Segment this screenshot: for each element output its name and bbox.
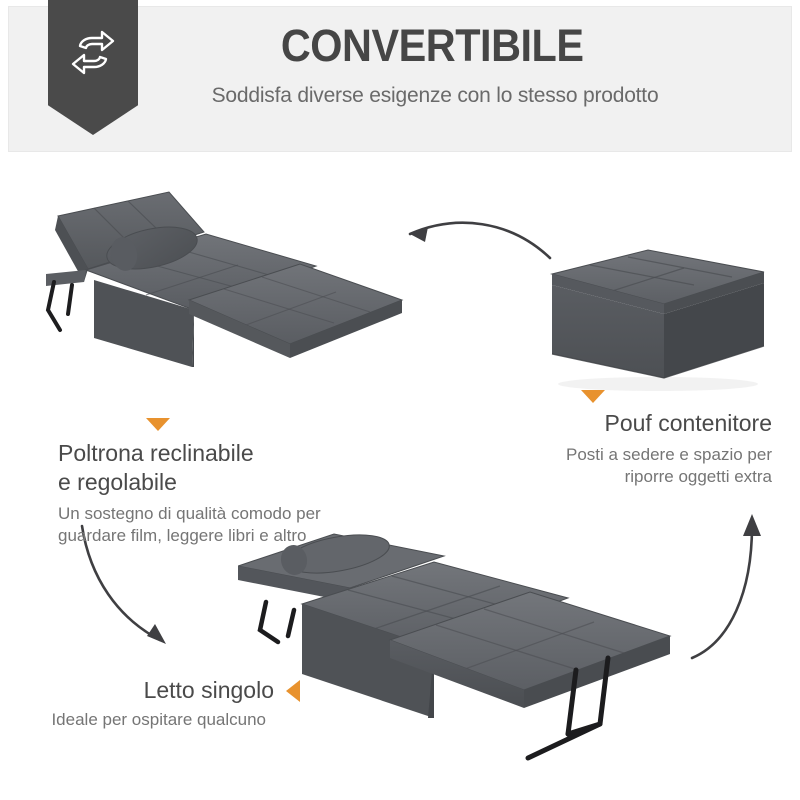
product-image-poltrona-reclinabile bbox=[24, 182, 414, 397]
feature-title-bed: Letto singolo bbox=[144, 676, 274, 705]
page-title: CONVERTIBILE bbox=[32, 20, 768, 72]
feature-caption-pouf: Pouf contenitore Posti a sedere e spazio… bbox=[472, 390, 772, 488]
feature-caption-recliner: Poltrona reclinabile e regolabile Un sos… bbox=[58, 418, 388, 547]
feature-title-recliner-line1: Poltrona reclinabile bbox=[58, 439, 388, 468]
product-image-letto-singolo bbox=[238, 518, 678, 768]
feature-desc-recliner-line2: guardare film, leggere libri e altro bbox=[58, 525, 388, 547]
feature-title-pouf: Pouf contenitore bbox=[472, 409, 772, 438]
arrow-pouf-to-recliner bbox=[380, 198, 560, 268]
feature-desc-recliner-line1: Un sostegno di qualità comodo per bbox=[58, 503, 388, 525]
arrow-bed-to-pouf bbox=[690, 496, 800, 666]
feature-desc-pouf-line1: Posti a sedere e spazio per bbox=[472, 444, 772, 466]
marker-triangle-down-pouf bbox=[472, 390, 714, 403]
feature-desc-bed: Ideale per ospitare qualcuno bbox=[10, 709, 300, 731]
feature-title-recliner-line2: e regolabile bbox=[58, 468, 388, 497]
marker-triangle-down-recliner bbox=[146, 418, 388, 431]
feature-desc-pouf-line2: riporre oggetti extra bbox=[472, 466, 772, 488]
product-image-pouf-contenitore bbox=[528, 238, 778, 393]
marker-triangle-left-bed bbox=[286, 680, 300, 702]
page-subtitle: Soddisfa diverse esigenze con lo stesso … bbox=[0, 84, 800, 108]
feature-caption-bed: Letto singolo Ideale per ospitare qualcu… bbox=[10, 676, 300, 731]
